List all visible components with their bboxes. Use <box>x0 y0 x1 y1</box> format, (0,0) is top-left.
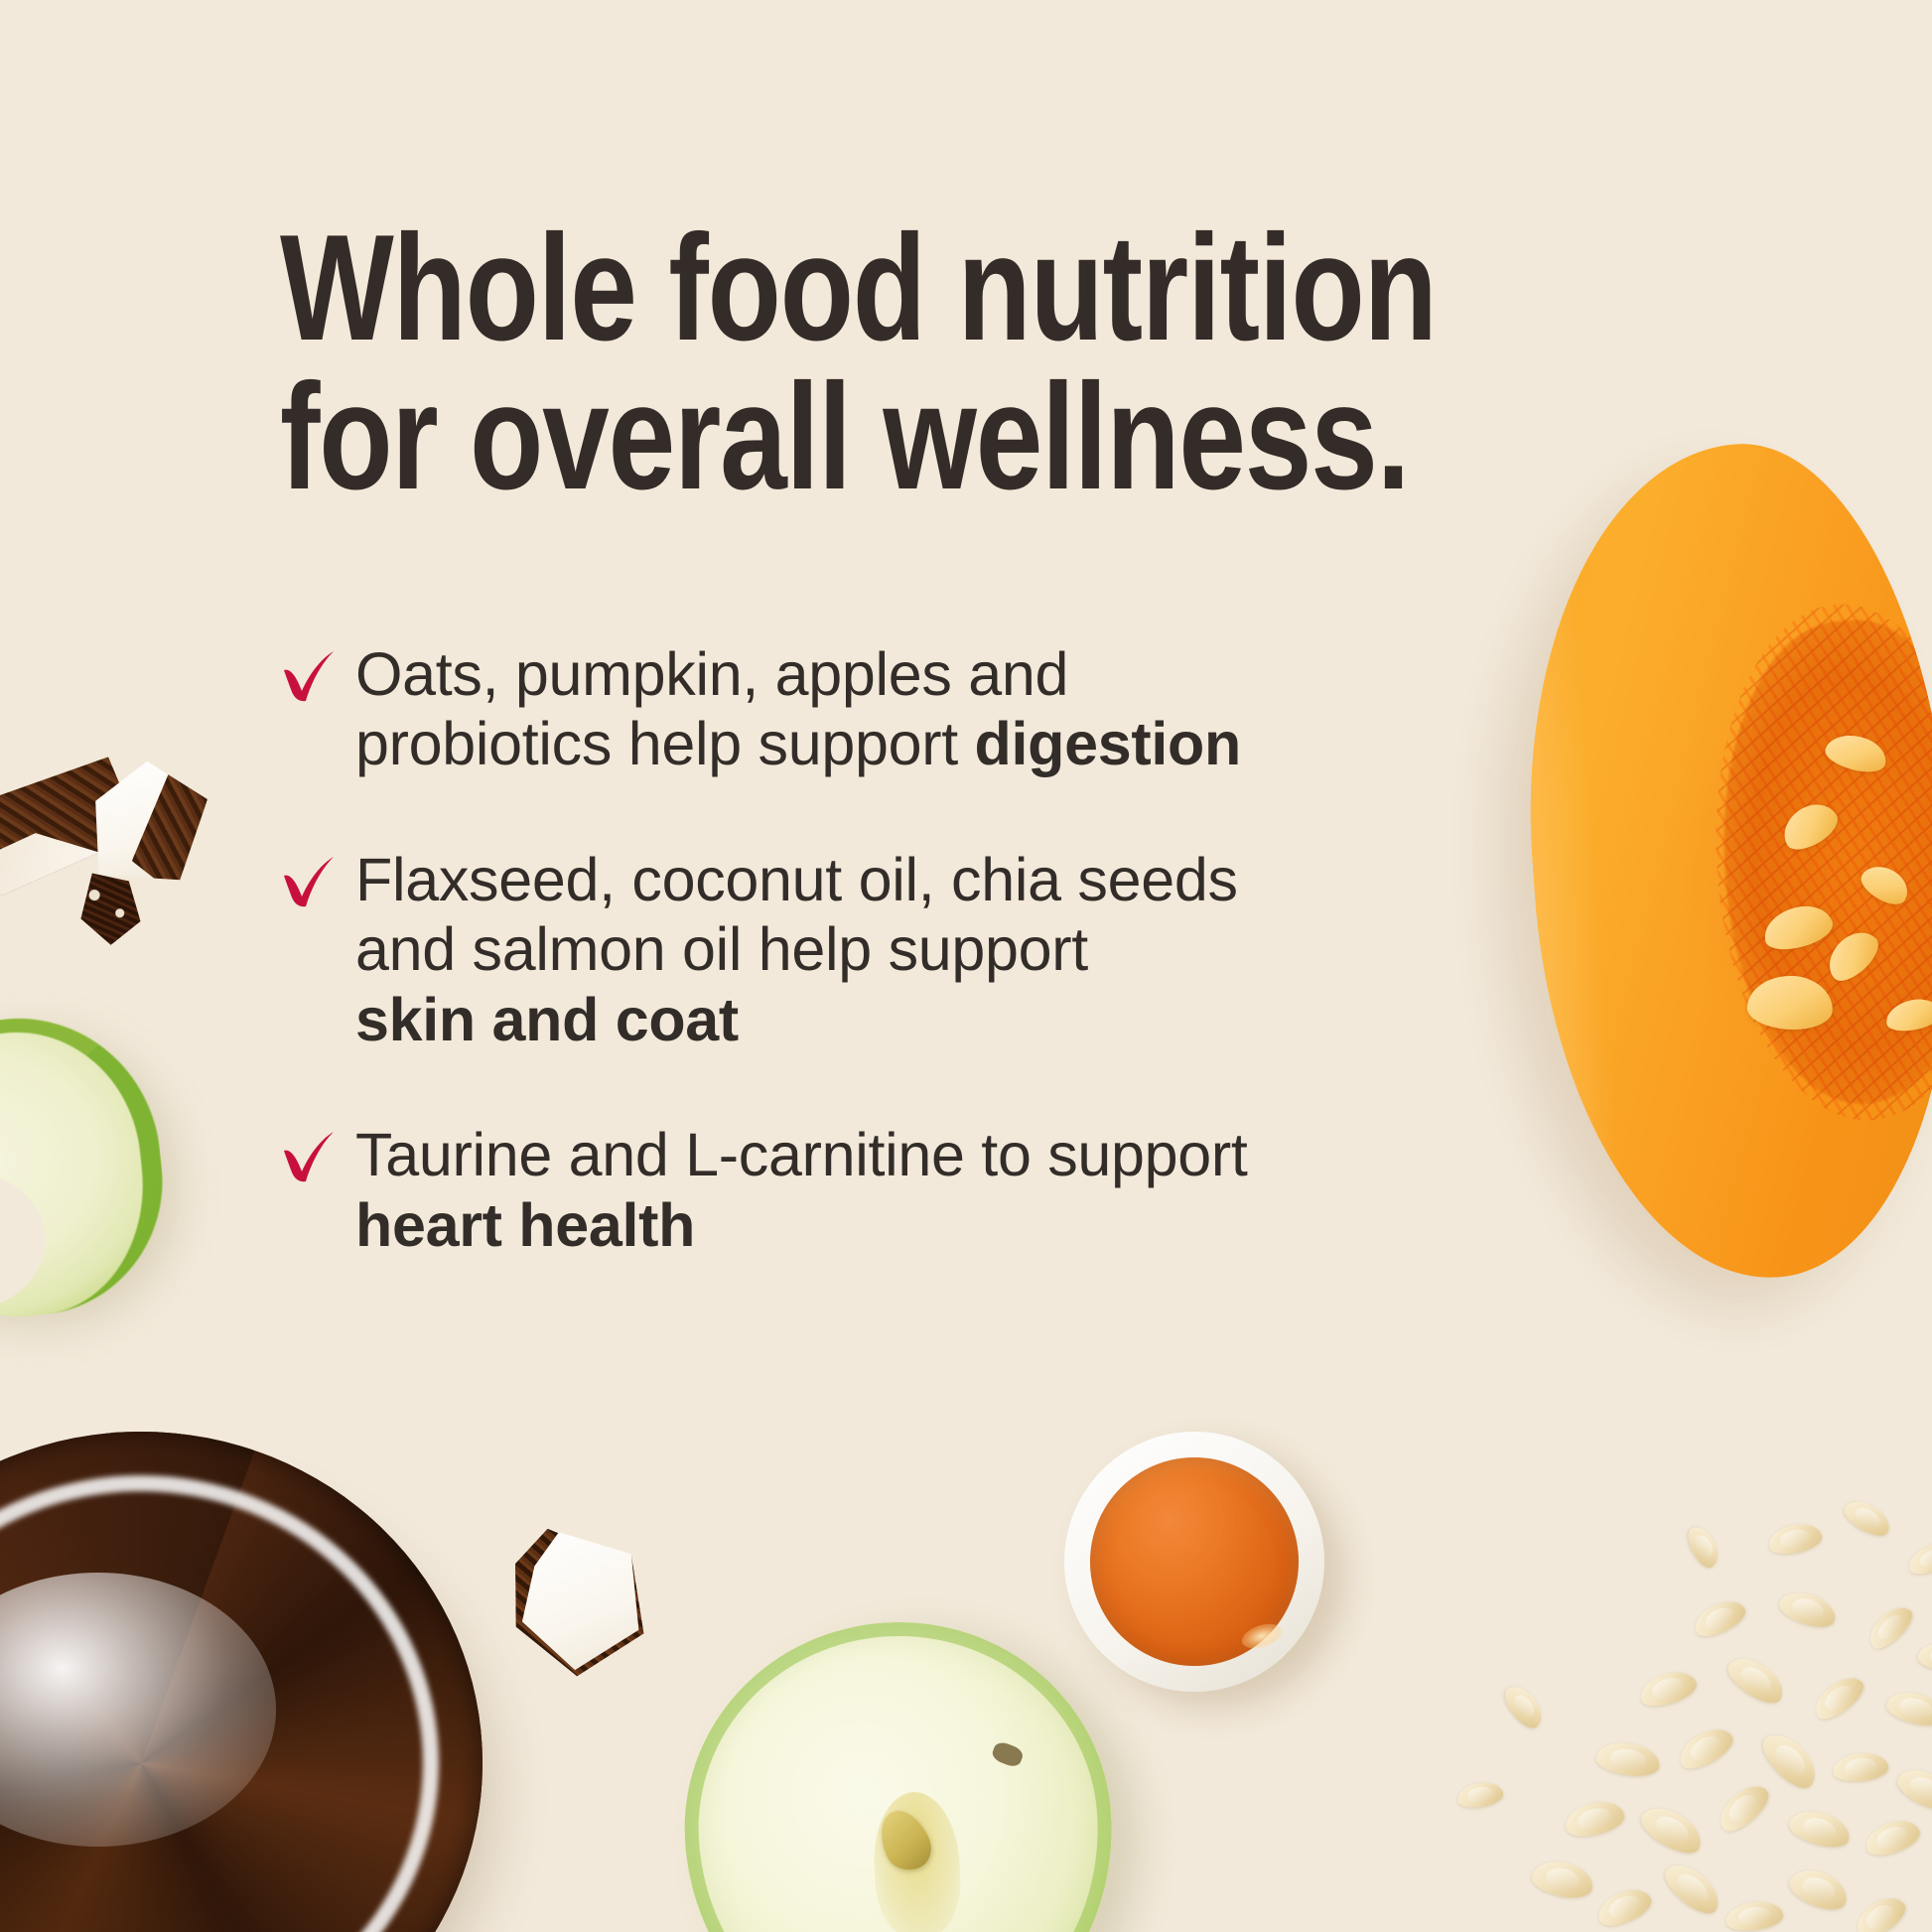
coconut-chunk-photo <box>73 869 142 948</box>
list-item: Flaxseed, coconut oil, chia seedsand sal… <box>280 845 1501 1054</box>
benefits-list: Oats, pumpkin, apples andprobiotics help… <box>280 639 1501 1260</box>
oats-pile-photo <box>1436 1475 1932 1932</box>
oat-flake <box>1755 1725 1825 1795</box>
oat-flake <box>1658 1856 1727 1921</box>
benefit-text-line1: Taurine and L-carnitine to support <box>355 1121 1248 1188</box>
oat-flake <box>1722 1649 1790 1710</box>
coconut-chunk-photo <box>499 1519 655 1684</box>
oat-flake <box>1529 1857 1596 1902</box>
oat-flake <box>1636 1666 1700 1712</box>
benefit-text-line2: probiotics help support <box>355 710 975 777</box>
page-title: Whole food nutrition for overall wellnes… <box>280 213 1678 512</box>
oat-flake <box>1904 1536 1932 1580</box>
salmon-oil <box>1090 1457 1299 1666</box>
oat-flake <box>1724 1898 1784 1932</box>
apple-core <box>871 1790 964 1932</box>
oat-flake <box>1808 1670 1868 1726</box>
oat-flake <box>1892 1761 1932 1816</box>
benefit-text-line1: Oats, pumpkin, apples and <box>355 640 1068 708</box>
oat-flake <box>1831 1750 1889 1784</box>
oat-flake <box>1863 1600 1917 1655</box>
coconut-half-photo <box>0 1465 449 1932</box>
oat-flake <box>1455 1779 1504 1811</box>
oat-flake <box>1635 1799 1709 1861</box>
check-icon <box>280 1130 345 1185</box>
coconut-husk <box>73 869 142 948</box>
coconut-flesh <box>499 1519 655 1684</box>
oat-flake <box>1683 1522 1725 1572</box>
list-item: Taurine and L-carnitine to supportheart … <box>280 1120 1501 1260</box>
pumpkin-seed <box>1819 922 1885 988</box>
apple-slice-photo <box>0 1005 176 1329</box>
pumpkin-seed <box>1883 995 1932 1035</box>
coconut-rim <box>0 1475 439 1932</box>
poster-canvas: Whole food nutrition for overall wellnes… <box>0 0 1932 1932</box>
benefit-highlight: skin and coat <box>355 986 739 1053</box>
pumpkin-fibers <box>1699 595 1932 1130</box>
check-icon <box>280 855 345 910</box>
oat-flake <box>1786 1805 1854 1853</box>
list-item-label: Flaxseed, coconut oil, chia seedsand sal… <box>355 845 1238 1054</box>
list-item-label: Oats, pumpkin, apples andprobiotics help… <box>355 639 1241 779</box>
benefit-text-line1: Flaxseed, coconut oil, chia seeds <box>355 846 1238 913</box>
list-item-label: Taurine and L-carnitine to supportheart … <box>355 1120 1248 1260</box>
oat-flake <box>1850 1889 1911 1932</box>
pumpkin-seed <box>1823 730 1890 777</box>
coconut-chunk-photo <box>0 754 147 902</box>
benefit-text-line2: and salmon oil help support <box>355 915 1088 983</box>
oat-flake <box>1883 1687 1932 1730</box>
coconut-chunk-photo <box>76 749 214 898</box>
pumpkin-cavity <box>1709 612 1932 1112</box>
oat-flake <box>1712 1777 1774 1838</box>
apple-seed <box>871 1803 938 1878</box>
oat-flake <box>1673 1722 1737 1776</box>
check-icon <box>280 649 345 705</box>
coconut-flesh <box>76 749 214 898</box>
oat-flake <box>1592 1882 1655 1932</box>
oil-bowl-photo <box>1064 1432 1324 1692</box>
benefit-highlight: digestion <box>975 710 1241 777</box>
apple-flesh <box>0 1005 176 1329</box>
coconut-flesh-shine <box>0 1573 276 1847</box>
apple-skin <box>674 1611 1123 1932</box>
oat-flake <box>1785 1863 1853 1916</box>
coconut-husk <box>126 762 214 898</box>
pumpkin-seed <box>1746 974 1834 1031</box>
oat-flake <box>1562 1796 1627 1842</box>
oil-highlight <box>1239 1620 1286 1654</box>
oat-flake <box>1775 1587 1839 1632</box>
oat-flake <box>1690 1594 1750 1643</box>
apple-skin <box>0 1005 176 1329</box>
oat-flake <box>1594 1739 1662 1780</box>
oat-flake <box>1499 1680 1549 1733</box>
oat-flake <box>1862 1814 1924 1861</box>
oat-flake <box>1916 1640 1932 1676</box>
list-item: Oats, pumpkin, apples andprobiotics help… <box>280 639 1501 779</box>
pumpkin-seed <box>1775 794 1844 857</box>
coconut-husk <box>0 754 147 902</box>
pumpkin-seed <box>1758 899 1836 957</box>
coconut-husk <box>0 1432 483 1932</box>
oat-flake <box>1840 1494 1895 1542</box>
apple-half-photo <box>674 1611 1123 1932</box>
benefit-highlight: heart health <box>355 1191 695 1259</box>
apple-slice-notch <box>0 1166 52 1318</box>
pumpkin-seed <box>1856 858 1914 910</box>
coconut-flesh <box>0 819 111 915</box>
text-content-block: Whole food nutrition for overall wellnes… <box>280 213 1690 1260</box>
coconut-husk <box>499 1519 655 1684</box>
apple-stem <box>990 1739 1025 1768</box>
oat-flake <box>1765 1520 1824 1559</box>
